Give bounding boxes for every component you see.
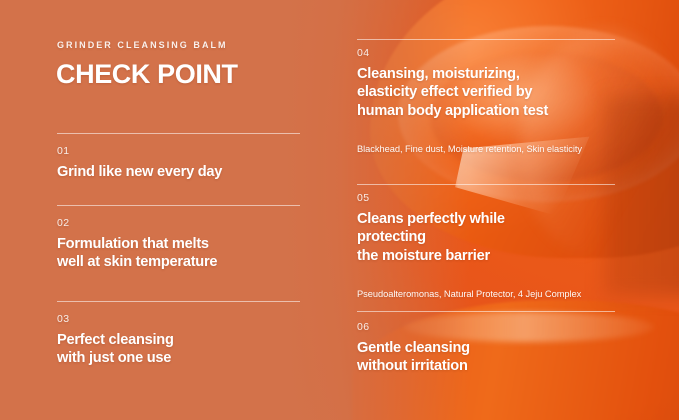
item-divider: [357, 39, 615, 40]
checkpoint-item-06: 06 Gentle cleansing without irritation: [357, 311, 615, 391]
content-layer: GRINDER CLEANSING BALM CHECK POINT 01 Gr…: [0, 0, 679, 420]
item-title: Cleansing, moisturizing, elasticity effe…: [357, 65, 548, 120]
item-subtitle: Pseudoalteromonas, Natural Protector, 4 …: [357, 288, 581, 300]
checkpoint-item-04: 04 Cleansing, moisturizing, elasticity e…: [357, 39, 615, 164]
brand-eyebrow: GRINDER CLEANSING BALM: [57, 40, 228, 50]
page-title: CHECK POINT: [56, 60, 238, 88]
item-number: 06: [357, 321, 369, 333]
infographic-canvas: GRINDER CLEANSING BALM CHECK POINT 01 Gr…: [0, 0, 679, 420]
item-divider: [357, 311, 615, 312]
item-number: 01: [57, 145, 69, 157]
item-divider: [357, 184, 615, 185]
item-divider: [57, 205, 300, 206]
item-title: Grind like new every day: [57, 163, 222, 181]
item-subtitle: Blackhead, Fine dust, Moisture retention…: [357, 143, 582, 155]
checkpoint-item-01: 01 Grind like new every day: [57, 133, 300, 195]
item-number: 05: [357, 192, 369, 204]
checkpoint-item-05: 05 Cleans perfectly while protecting the…: [357, 184, 615, 306]
item-title: Gentle cleansing without irritation: [357, 339, 470, 376]
checkpoint-item-02: 02 Formulation that melts well at skin t…: [57, 205, 300, 285]
item-divider: [57, 301, 300, 302]
item-title: Cleans perfectly while protecting the mo…: [357, 210, 505, 265]
item-title: Perfect cleansing with just one use: [57, 331, 174, 368]
item-number: 02: [57, 217, 69, 229]
item-number: 03: [57, 313, 69, 325]
checkpoint-item-03: 03 Perfect cleansing with just one use: [57, 301, 300, 381]
item-number: 04: [357, 47, 369, 59]
item-title: Formulation that melts well at skin temp…: [57, 235, 217, 272]
item-divider: [57, 133, 300, 134]
